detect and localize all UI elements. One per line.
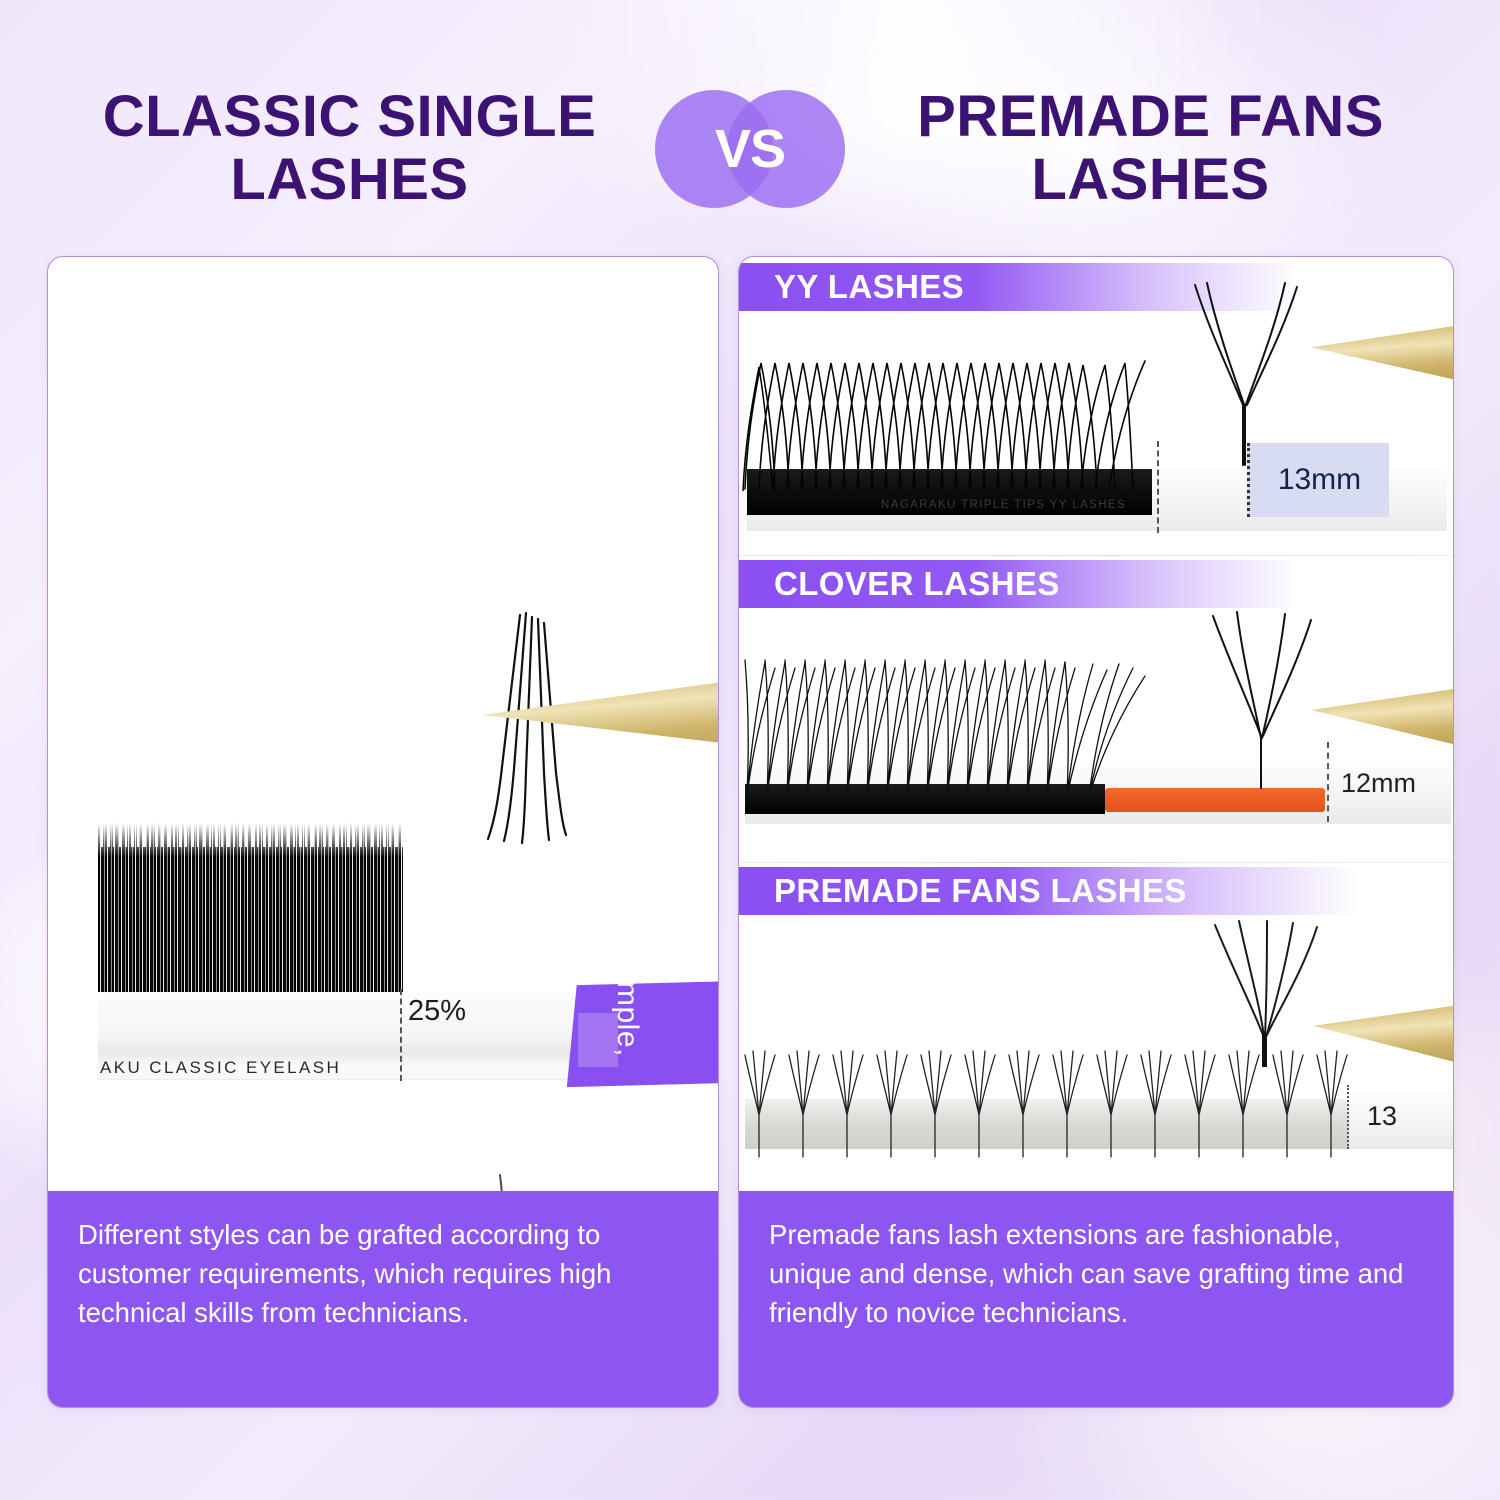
banner-label-yy: YY LASHES <box>739 268 964 306</box>
clover-single-fan-icon <box>1199 612 1329 792</box>
classic-single-lashes-panel: 25% AKU CLASSIC EYELASH mple, Different … <box>47 256 719 1408</box>
classic-lash-tip-fade <box>98 823 403 857</box>
percent-label: 25% <box>408 995 466 1028</box>
yy-measurement-box: 13mm <box>1247 443 1389 517</box>
clover-measure-dashed-line <box>1327 742 1329 822</box>
banner-label-premade: PREMADE FANS LASHES <box>739 872 1187 910</box>
section-premade-fans-lashes: PREMADE FANS LASHES <box>739 863 1453 1193</box>
yy-tray-text: NAGARAKU TRIPLE TIPS YY LASHES <box>881 499 1126 511</box>
comparison-header: CLASSIC SINGLE LASHES VS PREMADE FANS LA… <box>0 74 1500 224</box>
measure-dashed-line <box>400 989 402 1081</box>
tweezer-icon-clover <box>1311 688 1454 746</box>
single-lash-strands-icon <box>448 607 628 857</box>
vs-badge: VS <box>651 83 849 215</box>
clover-lash-texture-icon <box>741 650 1161 796</box>
banner-clover-lashes: CLOVER LASHES <box>739 560 1299 608</box>
section-yy-lashes: YY LASHES <box>739 257 1453 555</box>
banner-label-clover: CLOVER LASHES <box>739 565 1060 603</box>
left-caption: Different styles can be grafted accordin… <box>48 1191 718 1407</box>
tweezer-icon-yy <box>1311 325 1454 381</box>
product-label: AKU CLASSIC EYELASH <box>100 1058 341 1078</box>
premade-measure-dashed-line <box>1347 1085 1349 1149</box>
yy-measurement-label: 13mm <box>1278 463 1361 497</box>
premade-fans-lashes-panel: YY LASHES <box>738 256 1454 1408</box>
premade-measurement-label: 13 <box>1367 1101 1397 1132</box>
page-title-left: CLASSIC SINGLE LASHES <box>52 86 647 211</box>
page-title-right: PREMADE FANS LASHES <box>853 86 1448 211</box>
sticker-text: mple, <box>610 981 644 1057</box>
clover-measurement-label: 12mm <box>1341 768 1416 799</box>
yy-single-fan-icon <box>1185 279 1315 469</box>
banner-premade-fans: PREMADE FANS LASHES <box>739 867 1359 915</box>
premade-single-fan-icon <box>1205 921 1325 1069</box>
right-caption: Premade fans lash extensions are fashion… <box>739 1191 1453 1407</box>
vs-label: VS <box>715 118 785 180</box>
section-clover-lashes: CLOVER LASHES <box>739 556 1453 862</box>
yy-lash-texture-icon <box>743 349 1163 491</box>
yy-measure-dashed-line <box>1157 441 1159 533</box>
